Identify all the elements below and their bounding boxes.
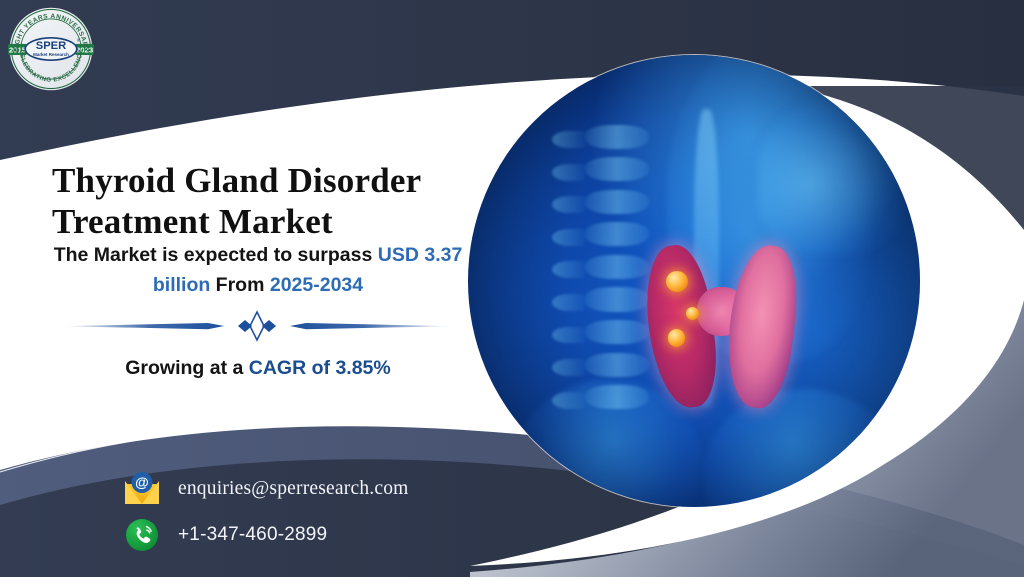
ornamental-diamond-divider bbox=[58, 310, 456, 342]
marketing-banner: 2015 2023 EIGHT YEARS ANNIVERSARY CELEBR… bbox=[0, 0, 1024, 577]
badge-tagline-text: Market Research bbox=[33, 52, 69, 57]
subhead-connector: From bbox=[210, 274, 270, 296]
sper-anniversary-badge[interactable]: 2015 2023 EIGHT YEARS ANNIVERSARY CELEBR… bbox=[8, 6, 94, 92]
thyroid-nodule bbox=[668, 329, 685, 346]
divider-diamond-center bbox=[250, 312, 264, 340]
medical-photo-circle bbox=[468, 55, 920, 507]
contact-block: @ enquiries@sperresearch.com +1-347-460-… bbox=[124, 468, 409, 560]
cagr-prefix: Growing at a bbox=[125, 357, 249, 379]
cagr-value: 3.85% bbox=[335, 357, 390, 379]
cagr-statement: Growing at a CAGR of 3.85% bbox=[46, 357, 470, 380]
cagr-label: CAGR of bbox=[249, 357, 330, 379]
thyroid-nodule bbox=[666, 271, 688, 292]
divider-left-bar bbox=[60, 323, 224, 329]
email-address[interactable]: enquiries@sperresearch.com bbox=[178, 478, 409, 500]
headline-line-1: Thyroid Gland Disorder bbox=[52, 160, 464, 201]
envelope-at-icon: @ bbox=[124, 471, 160, 507]
page-title: Thyroid Gland Disorder Treatment Market bbox=[52, 160, 464, 243]
headline-line-2: Treatment Market bbox=[52, 201, 464, 242]
thyroid-gland-illustration bbox=[649, 245, 794, 408]
phone-handset-icon bbox=[124, 517, 160, 553]
market-value-statement: The Market is expected to surpass USD 3.… bbox=[46, 240, 470, 300]
badge-brand-text: SPER bbox=[36, 40, 66, 52]
contact-row-phone[interactable]: +1-347-460-2899 bbox=[124, 514, 409, 556]
thyroid-lobe-right bbox=[720, 242, 803, 411]
subhead-currency: USD bbox=[378, 244, 419, 266]
phone-number[interactable]: +1-347-460-2899 bbox=[178, 524, 327, 546]
xray-background bbox=[468, 55, 920, 507]
at-symbol: @ bbox=[132, 472, 153, 493]
subhead-prefix: The Market is expected to surpass bbox=[54, 244, 378, 266]
subhead-period: 2025-2034 bbox=[270, 274, 363, 296]
contact-row-email[interactable]: @ enquiries@sperresearch.com bbox=[124, 468, 409, 510]
xray-jaw-glow bbox=[757, 100, 911, 254]
divider-right-bar bbox=[290, 323, 454, 329]
